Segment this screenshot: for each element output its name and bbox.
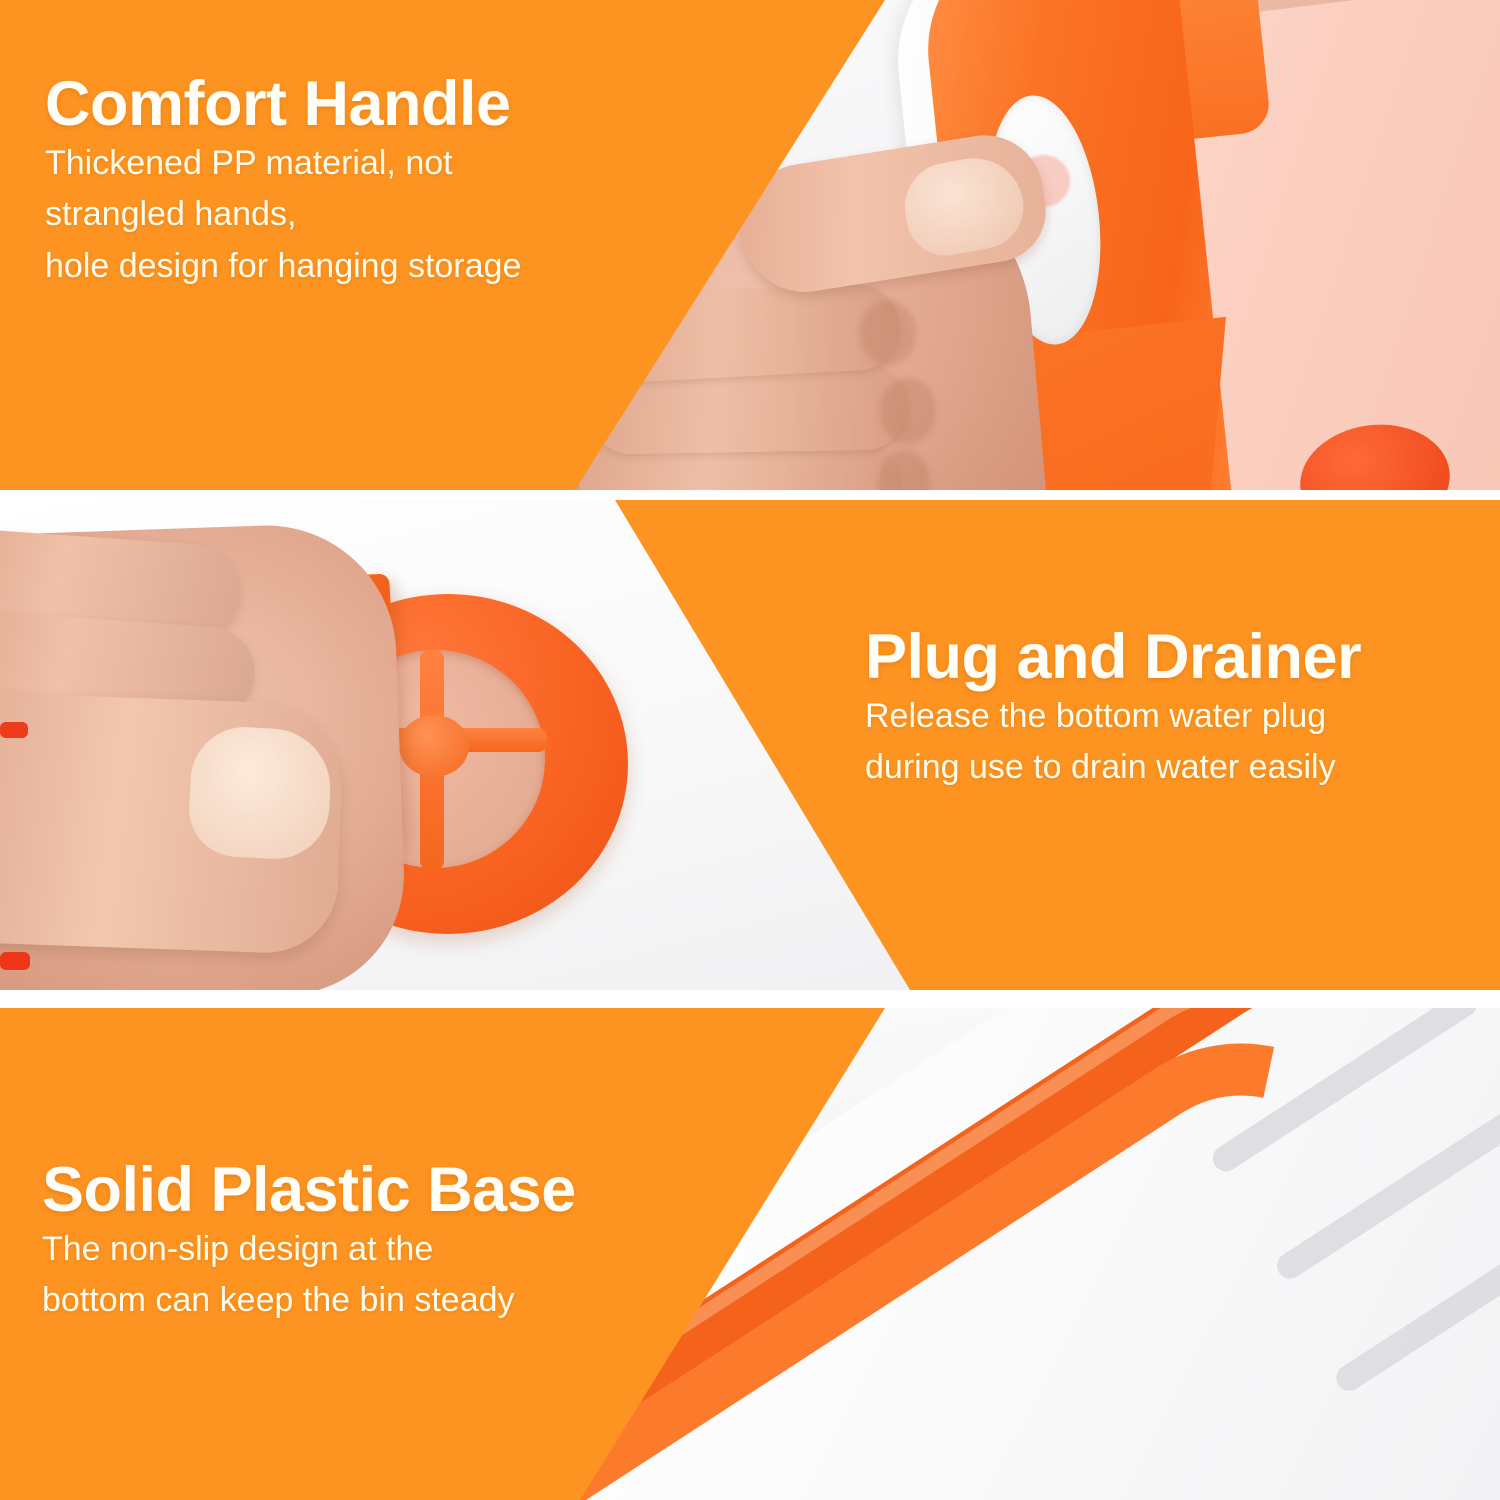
knuckle-crease xyxy=(880,378,936,444)
product-feature-infographic: Comfort Handle Thickened PP material, no… xyxy=(0,0,1500,1500)
panel-description: The non-slip design at the bottom can ke… xyxy=(42,1224,576,1327)
panel-text-block: Plug and Drainer Release the bottom wate… xyxy=(865,625,1361,794)
drain-hub xyxy=(399,715,469,777)
panel-description-line: strangled hands, xyxy=(45,189,521,241)
feature-panel-plug-drainer: Plug and Drainer Release the bottom wate… xyxy=(0,500,1500,990)
panel-description-line: bottom can keep the bin steady xyxy=(42,1275,576,1327)
panel-description-line: The non-slip design at the xyxy=(42,1224,576,1276)
red-object-edge xyxy=(0,722,28,738)
panel-title: Plug and Drainer xyxy=(865,625,1361,691)
panel-title: Comfort Handle xyxy=(45,72,521,138)
panel-title: Solid Plastic Base xyxy=(42,1158,576,1224)
panel-description-line: during use to drain water easily xyxy=(865,742,1361,794)
panel-description: Thickened PP material, not strangled han… xyxy=(45,138,521,293)
panel-description-line: Thickened PP material, not xyxy=(45,138,521,190)
feature-panel-comfort-handle: Comfort Handle Thickened PP material, no… xyxy=(0,0,1500,490)
knuckle-crease xyxy=(860,300,916,366)
panel-description: Release the bottom water plug during use… xyxy=(865,691,1361,794)
red-object-edge xyxy=(0,952,30,970)
panel-description-line: Release the bottom water plug xyxy=(865,691,1361,743)
thumb-nail xyxy=(187,724,334,861)
panel-description-line: hole design for hanging storage xyxy=(45,241,521,293)
feature-panel-solid-plastic-base: Solid Plastic Base The non-slip design a… xyxy=(0,1008,1500,1500)
panel-text-block: Solid Plastic Base The non-slip design a… xyxy=(42,1158,576,1327)
panel-text-block: Comfort Handle Thickened PP material, no… xyxy=(45,72,521,293)
